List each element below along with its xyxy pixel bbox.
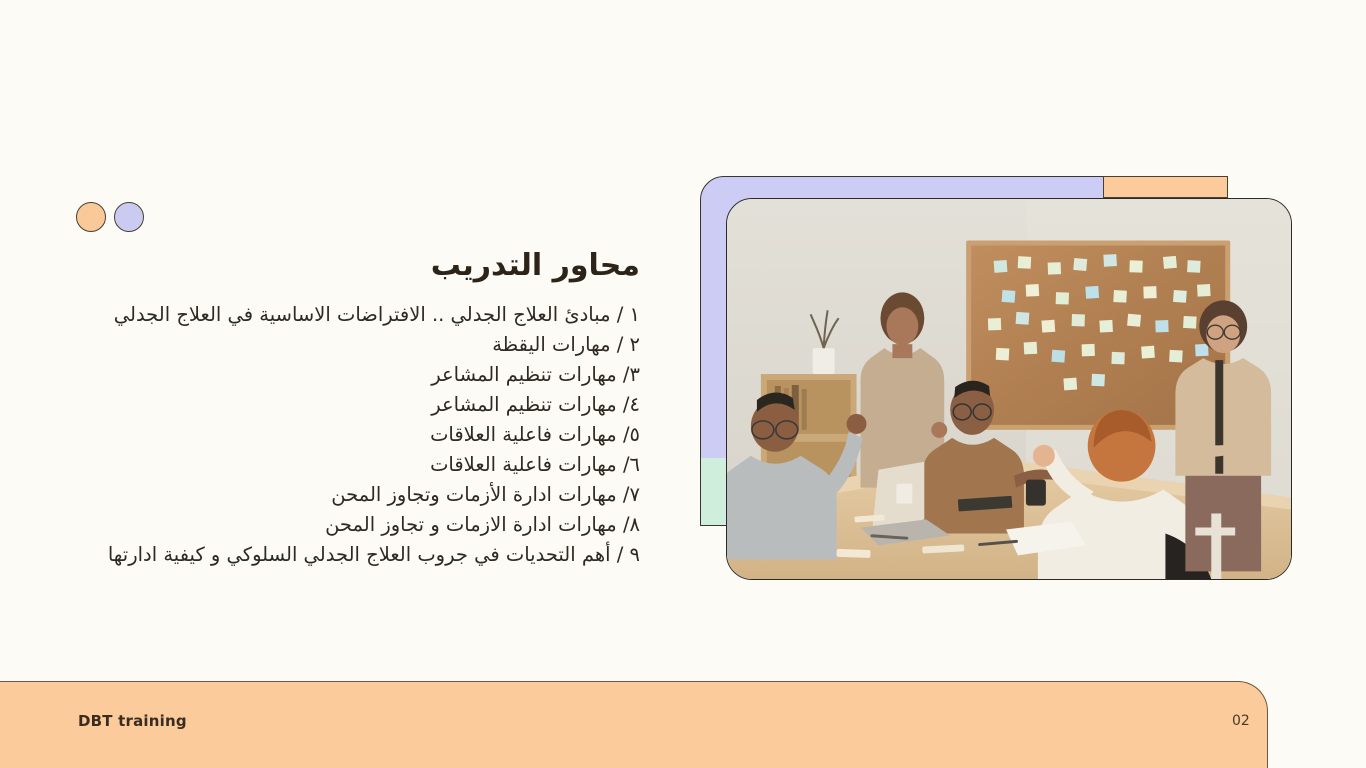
footer-title: DBT training <box>78 712 187 730</box>
page-number: 02 <box>1232 713 1250 729</box>
list-item: ٩ / أهم التحديات في جروب العلاج الجدلي ا… <box>40 540 640 570</box>
list-item: ٦/ مهارات فاعلية العلاقات <box>40 450 640 480</box>
list-item: ٤/ مهارات تنظيم المشاعر <box>40 390 640 420</box>
list-item: ٢ / مهارات اليقظة <box>40 330 640 360</box>
violet-dot-icon <box>114 202 144 232</box>
photo-composition <box>700 176 1292 580</box>
list-item: ٨/ مهارات ادارة الازمات و تجاوز المحن <box>40 510 640 540</box>
list-item: ٧/ مهارات ادارة الأزمات وتجاوز المحن <box>40 480 640 510</box>
page-title: محاور التدريب <box>40 248 640 284</box>
content-column: محاور التدريب ١ / مبادئ العلاج الجدلي ..… <box>40 248 640 570</box>
peach-accent-shape <box>1103 176 1228 198</box>
decorative-dots <box>76 202 144 232</box>
list-item: ٣/ مهارات تنظيم المشاعر <box>40 360 640 390</box>
peach-dot-icon <box>76 202 106 232</box>
meeting-photo <box>726 198 1292 580</box>
topics-list: ١ / مبادئ العلاج الجدلي .. الافتراضات ال… <box>40 300 640 570</box>
slide-footer: DBT training 02 <box>0 681 1268 768</box>
slide-canvas: محاور التدريب ١ / مبادئ العلاج الجدلي ..… <box>0 0 1366 768</box>
list-item: ١ / مبادئ العلاج الجدلي .. الافتراضات ال… <box>40 300 640 330</box>
list-item: ٥/ مهارات فاعلية العلاقات <box>40 420 640 450</box>
